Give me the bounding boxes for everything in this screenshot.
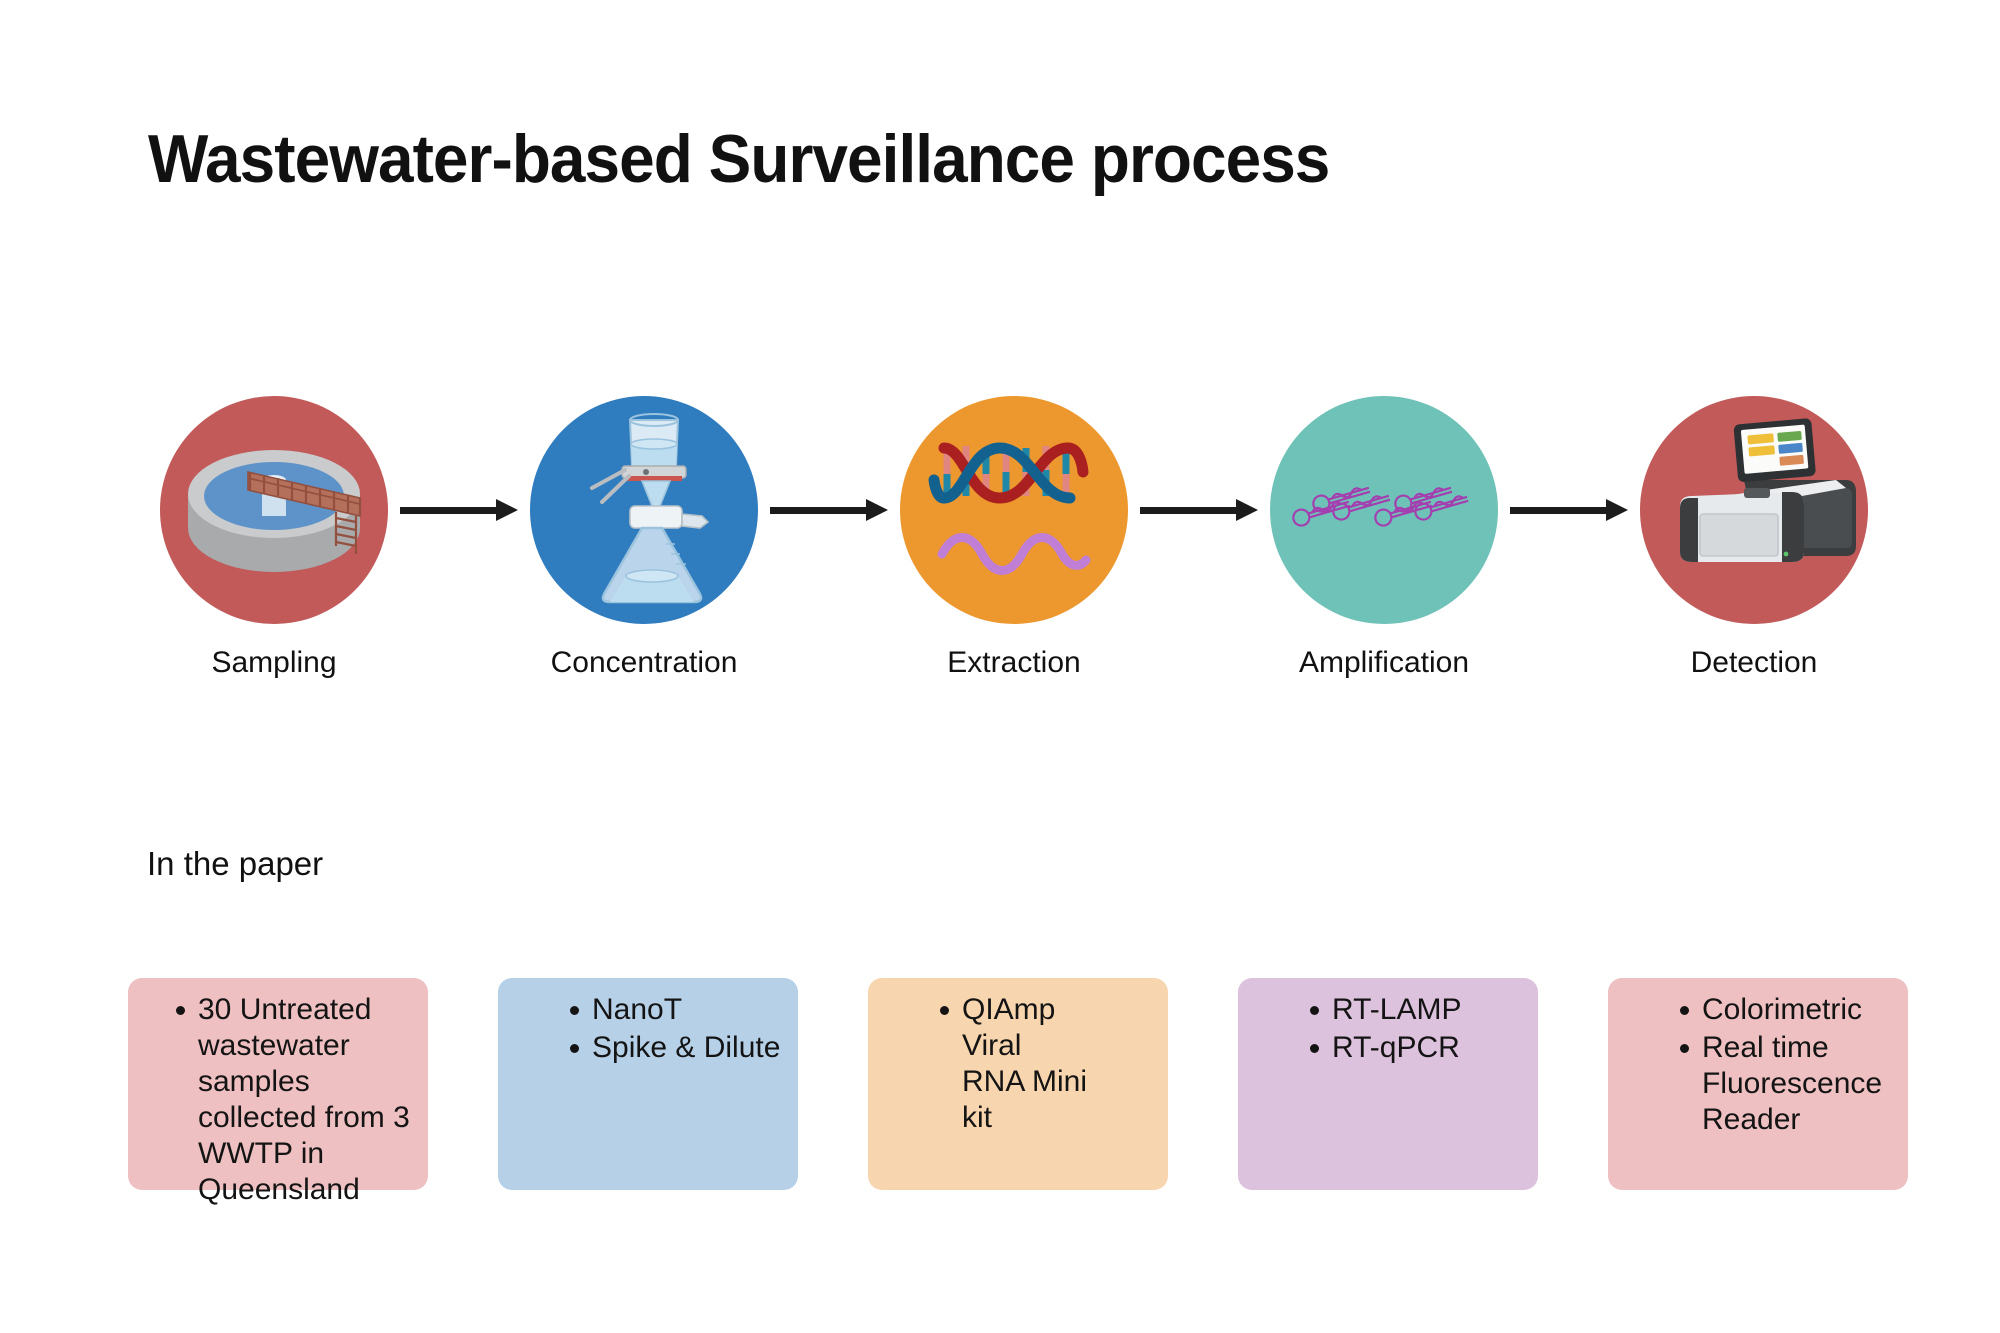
box-concentration[interactable]: NanoT Spike & Dilute	[498, 978, 798, 1190]
detail-boxes-row: 30 Untreated wastewater samples collecte…	[0, 978, 2000, 1198]
sampling-icon-circle	[160, 396, 388, 624]
list-item: RT-qPCR	[1310, 1030, 1528, 1066]
section-label-in-the-paper: In the paper	[147, 845, 323, 883]
box-sampling[interactable]: 30 Untreated wastewater samples collecte…	[128, 978, 428, 1190]
list-item: RT-LAMP	[1310, 992, 1528, 1028]
flow-step-extraction[interactable]: Extraction	[900, 396, 1128, 624]
flow-step-detection[interactable]: Detection	[1640, 396, 1868, 624]
process-flow: Sampling	[0, 396, 2000, 626]
box-sampling-list: 30 Untreated wastewater samples collecte…	[138, 992, 418, 1208]
flow-step-label-concentration: Concentration	[474, 646, 814, 680]
vacuum-filtration-icon	[530, 396, 758, 624]
box-detection-list: Colorimetric Real time Fluorescence Read…	[1642, 992, 1898, 1138]
arrow-amplification-to-detection	[1510, 503, 1628, 517]
list-item: 30 Untreated wastewater samples collecte…	[176, 992, 418, 1208]
list-item: NanoT	[570, 992, 788, 1028]
flow-step-label-extraction: Extraction	[844, 646, 1184, 680]
flow-step-label-amplification: Amplification	[1214, 646, 1554, 680]
box-concentration-list: NanoT Spike & Dilute	[532, 992, 788, 1066]
box-amplification[interactable]: RT-LAMP RT-qPCR	[1238, 978, 1538, 1190]
arrow-sampling-to-concentration	[400, 503, 518, 517]
list-item: Spike & Dilute	[570, 1030, 788, 1066]
flow-step-label-detection: Detection	[1584, 646, 1924, 680]
dna-rna-icon	[900, 396, 1128, 624]
box-detection[interactable]: Colorimetric Real time Fluorescence Read…	[1608, 978, 1908, 1190]
box-extraction[interactable]: QIAmp Viral RNA Mini kit	[868, 978, 1168, 1190]
amplification-icon-circle	[1270, 396, 1498, 624]
concentration-icon-circle	[530, 396, 758, 624]
extraction-icon-circle	[900, 396, 1128, 624]
arrow-extraction-to-amplification	[1140, 503, 1258, 517]
list-item: Colorimetric	[1680, 992, 1898, 1028]
box-extraction-list: QIAmp Viral RNA Mini kit	[902, 992, 1158, 1136]
detection-icon-circle	[1640, 396, 1868, 624]
flow-step-sampling[interactable]: Sampling	[160, 396, 388, 624]
page-title: Wastewater-based Surveillance process	[148, 125, 1329, 193]
thermal-cycler-icon	[1640, 396, 1868, 624]
list-item: Real time Fluorescence Reader	[1680, 1030, 1898, 1138]
flow-step-label-sampling: Sampling	[104, 646, 444, 680]
amplicon-strands-icon	[1270, 396, 1498, 624]
flow-step-concentration[interactable]: Concentration	[530, 396, 758, 624]
box-amplification-list: RT-LAMP RT-qPCR	[1272, 992, 1528, 1066]
flow-step-amplification[interactable]: Amplification	[1270, 396, 1498, 624]
list-item: QIAmp Viral RNA Mini kit	[940, 992, 1090, 1136]
clarifier-tank-icon	[160, 396, 388, 624]
arrow-concentration-to-extraction	[770, 503, 888, 517]
